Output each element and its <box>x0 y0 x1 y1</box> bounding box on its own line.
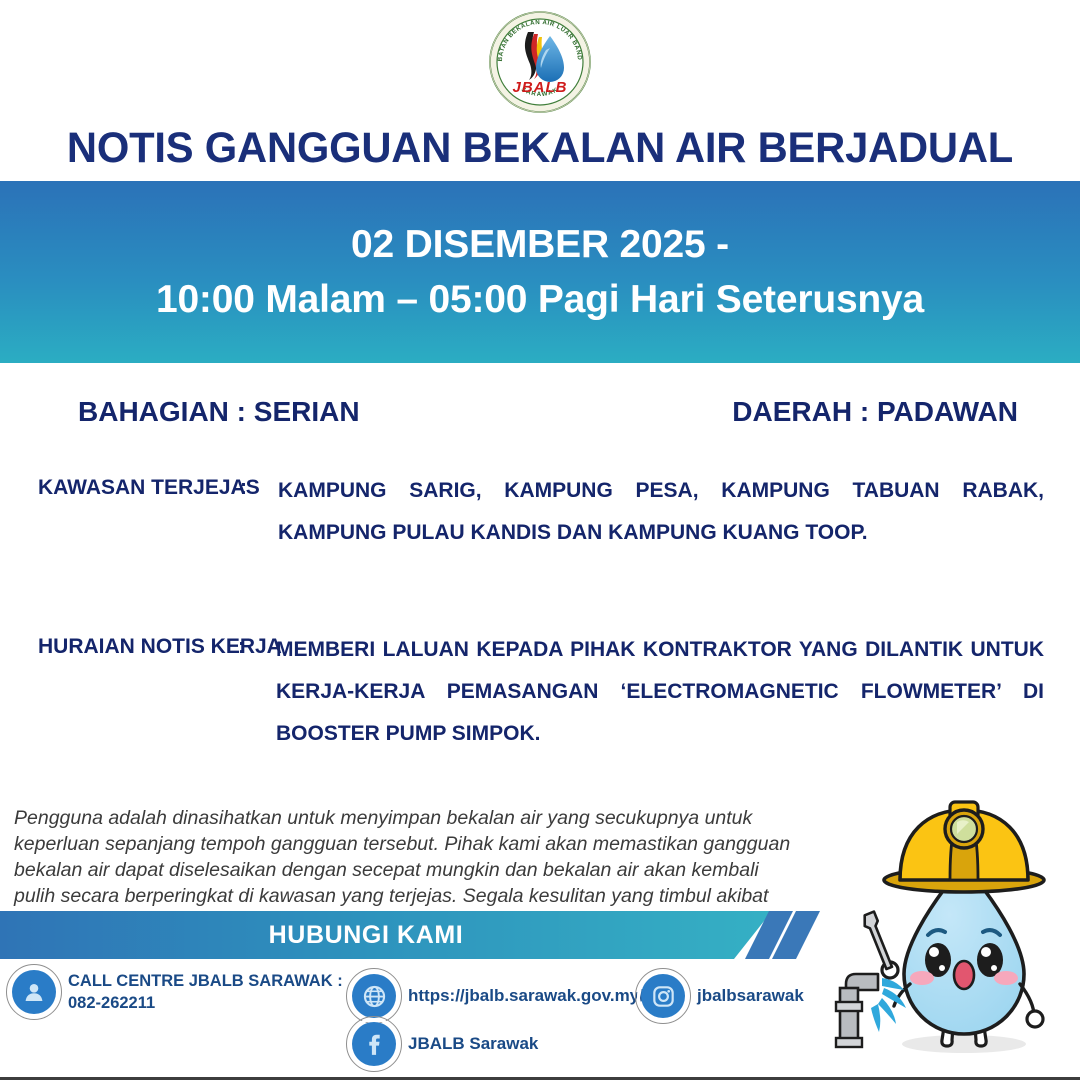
globe-icon <box>352 974 396 1018</box>
jbalb-sarawak-logo: JABATAN BEKALAN AIR LUAR BANDAR SARAWAK … <box>488 10 592 114</box>
work-description-label: HURAIAN NOTIS KERJA <box>0 636 238 657</box>
contact-website-text: https://jbalb.sarawak.gov.my/ <box>408 985 644 1008</box>
region-row: BAHAGIAN : SERIAN DAERAH : PADAWAN <box>0 396 1080 428</box>
district-label: DAERAH : PADAWAN <box>732 396 1018 428</box>
page-title: NOTIS GANGGUAN BEKALAN AIR BERJADUAL <box>16 124 1064 173</box>
contact-bar: HUBUNGI KAMI <box>0 911 772 959</box>
contact-instagram[interactable]: jbalbsarawak <box>641 974 804 1018</box>
instagram-icon <box>641 974 685 1018</box>
date-banner: 02 DISEMBER 2025 - 10:00 Malam – 05:00 P… <box>0 181 1080 363</box>
affected-area-colon: : <box>240 477 278 498</box>
call-centre-line-1: CALL CENTRE JBALB SARAWAK : <box>68 972 343 990</box>
affected-area-label: KAWASAN TERJEJAS <box>0 477 240 498</box>
contact-instagram-text: jbalbsarawak <box>697 985 804 1008</box>
work-description-field: HURAIAN NOTIS KERJA : MEMBERI LALUAN KEP… <box>0 636 1080 755</box>
facebook-icon <box>352 1022 396 1066</box>
contact-call-centre-text: CALL CENTRE JBALB SARAWAK : 082-262211 <box>68 970 343 1015</box>
contact-facebook-text: JBALB Sarawak <box>408 1033 538 1056</box>
water-droplet-mascot <box>824 792 1076 1074</box>
work-description-value: MEMBERI LALUAN KEPADA PIHAK KONTRAKTOR Y… <box>276 629 1080 755</box>
svg-text:JBALB: JBALB <box>512 79 567 96</box>
contact-facebook[interactable]: JBALB Sarawak <box>352 1022 538 1066</box>
call-centre-line-2: 082-262211 <box>68 994 155 1012</box>
person-icon <box>12 970 56 1014</box>
work-description-colon: : <box>238 636 276 657</box>
water-disruption-notice-poster: JABATAN BEKALAN AIR LUAR BANDAR SARAWAK … <box>0 0 1080 1080</box>
contact-website[interactable]: https://jbalb.sarawak.gov.my/ <box>352 974 644 1018</box>
date-line-1: 02 DISEMBER 2025 - <box>351 217 729 272</box>
division-label: BAHAGIAN : SERIAN <box>78 396 360 428</box>
date-line-2: 10:00 Malam – 05:00 Pagi Hari Seterusnya <box>156 272 924 327</box>
affected-area-value: KAMPUNG SARIG, KAMPUNG PESA, KAMPUNG TAB… <box>278 470 1080 554</box>
contact-call-centre[interactable]: CALL CENTRE JBALB SARAWAK : 082-262211 <box>12 970 343 1015</box>
affected-area-field: KAWASAN TERJEJAS : KAMPUNG SARIG, KAMPUN… <box>0 477 1080 554</box>
contact-bar-label: HUBUNGI KAMI <box>269 921 504 950</box>
